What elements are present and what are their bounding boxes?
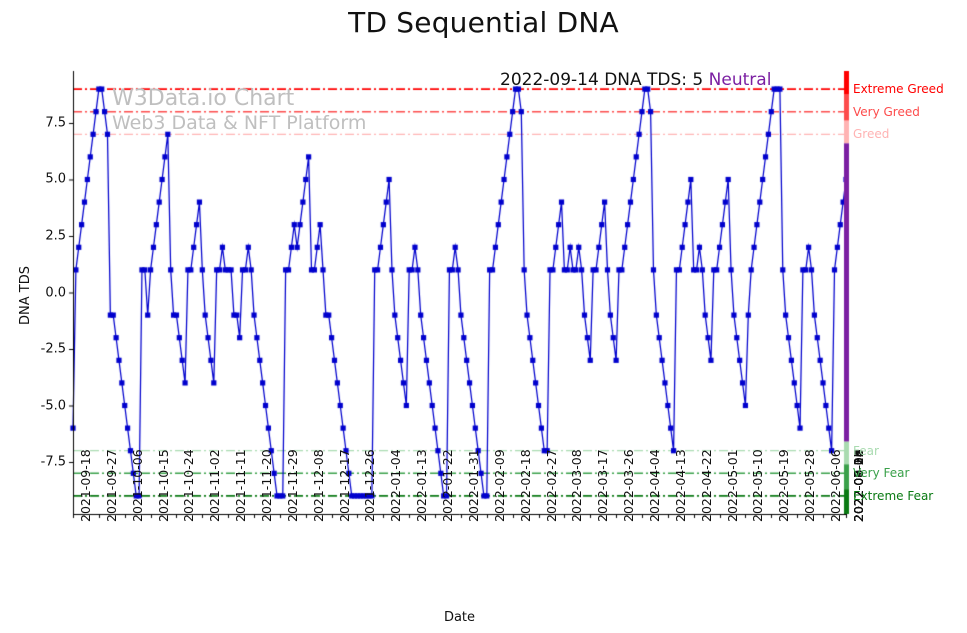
x-tick-label: 2022-04-13 [673,449,688,522]
y-tick-label: -7.5 [22,455,66,470]
x-tick-label: 2021-09-27 [104,449,119,522]
x-tick-label: 2022-02-09 [492,449,507,522]
x-axis-label: Date [73,610,846,625]
zone-label-extreme-fear: Extreme Fear [853,489,933,503]
x-tick-label: 2021-12-26 [362,449,377,522]
x-tick-label: 2022-05-10 [750,449,765,522]
x-tick-label: 2021-11-20 [259,449,274,522]
x-tick-label: 2021-10-24 [181,449,196,522]
x-tick-label: 2021-12-17 [337,449,352,522]
x-tick-label: 2022-03-08 [569,449,584,522]
zone-label-very-greed: Very Greed [853,105,920,119]
x-tick-label: 2022-01-31 [466,449,481,522]
y-tick-label: 7.5 [22,115,66,130]
y-tick-label: -5.0 [22,398,66,413]
watermark-line-1: W3Data.io Chart [112,86,294,111]
x-tick-label: 2022-09-13 [851,449,866,522]
x-tick-label: 2021-11-02 [207,449,222,522]
x-tick-label: 2022-05-19 [776,449,791,522]
x-tick-label: 2022-03-26 [621,449,636,522]
watermark-line-2: Web3 Data & NFT Platform [112,112,366,134]
annotation-state-label: Neutral [709,70,772,90]
chart-page: TD Sequential DNA W3Data.io Chart Web3 D… [0,0,967,633]
x-tick-label: 2021-09-18 [78,449,93,522]
latest-value-annotation: 2022-09-14 DNA TDS: 5 Neutral [500,70,771,90]
x-tick-label: 2021-11-29 [285,449,300,522]
x-tick-label: 2022-04-04 [647,449,662,522]
y-tick-label: 0.0 [22,285,66,300]
zone-label-very-fear: Very Fear [853,466,909,480]
x-tick-label: 2021-10-06 [130,449,145,522]
x-tick-label: 2022-02-18 [518,449,533,522]
annotation-date-value: 2022-09-14 DNA TDS: 5 [500,70,703,90]
x-tick-label: 2021-11-11 [233,449,248,522]
x-tick-label: 2022-06-06 [828,449,843,522]
x-tick-label: 2022-03-17 [595,449,610,522]
x-tick-label: 2021-12-08 [311,449,326,522]
y-tick-label: 5.0 [22,172,66,187]
zone-label-greed: Greed [853,127,889,141]
x-tick-label: 2022-02-27 [544,449,559,522]
x-tick-label: 2021-10-15 [156,449,171,522]
y-tick-label: 2.5 [22,228,66,243]
zone-label-extreme-greed: Extreme Greed [853,82,944,96]
x-tick-label: 2022-05-01 [725,449,740,522]
zone-label-fear: Fear [853,444,879,458]
x-tick-label: 2022-01-13 [414,449,429,522]
x-tick-label: 2022-01-04 [388,449,403,522]
x-tick-label: 2022-01-22 [440,449,455,522]
x-tick-label: 2022-04-22 [699,449,714,522]
x-tick-label: 2022-05-28 [802,449,817,522]
y-tick-label: -2.5 [22,342,66,357]
